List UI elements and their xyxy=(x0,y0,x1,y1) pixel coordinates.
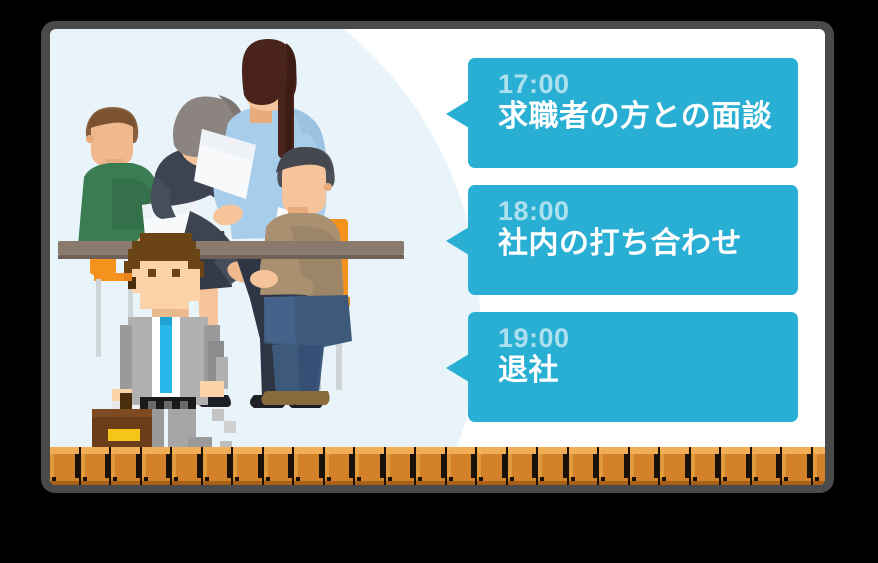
brick-corner-tick xyxy=(296,477,300,481)
brick-notch-left xyxy=(294,454,298,478)
brick-highlight xyxy=(691,447,720,454)
brick-corner-tick xyxy=(52,477,56,481)
brick-shadow xyxy=(81,481,110,485)
brick-notch-right xyxy=(563,454,567,478)
brick-corner-tick xyxy=(784,477,788,481)
brick-notch-left xyxy=(172,454,176,478)
schedule-time: 19:00 xyxy=(498,323,798,353)
brick-corner-tick xyxy=(449,477,453,481)
brick-highlight xyxy=(294,447,323,454)
floor-brick xyxy=(569,447,600,485)
bubble-tail-icon xyxy=(446,354,469,382)
brick-notch-left xyxy=(782,454,786,478)
floor-brick xyxy=(172,447,203,485)
brick-highlight xyxy=(111,447,140,454)
brick-notch-left xyxy=(142,454,146,478)
brick-notch-right xyxy=(593,454,597,478)
schedule-title: 求職者の方との面談 xyxy=(498,99,798,136)
brick-shadow xyxy=(111,481,140,485)
bubble-tail-icon xyxy=(446,227,469,255)
brick-highlight xyxy=(721,447,750,454)
brick-corner-tick xyxy=(693,477,697,481)
brick-notch-right xyxy=(715,454,719,478)
brick-notch-right xyxy=(197,454,201,478)
floor-brick xyxy=(721,447,752,485)
brick-corner-tick xyxy=(601,477,605,481)
brick-shadow xyxy=(508,481,537,485)
brick-highlight xyxy=(599,447,628,454)
brick-notch-left xyxy=(325,454,329,478)
brick-corner-tick xyxy=(510,477,514,481)
floor-brick xyxy=(233,447,264,485)
brick-highlight xyxy=(447,447,476,454)
brick-highlight xyxy=(142,447,171,454)
floor-brick xyxy=(447,447,478,485)
schedule-time: 18:00 xyxy=(498,196,798,226)
brick-highlight xyxy=(569,447,598,454)
brick-shadow xyxy=(233,481,262,485)
schedule-card-1[interactable]: 17:00 求職者の方との面談 xyxy=(468,58,798,168)
brick-notch-right xyxy=(502,454,506,478)
brick-notch-left xyxy=(630,454,634,478)
brick-highlight xyxy=(50,447,79,454)
floor-brick xyxy=(508,447,539,485)
floor-brick xyxy=(50,447,81,485)
brick-notch-left xyxy=(660,454,664,478)
brick-highlight xyxy=(81,447,110,454)
brick-notch-right xyxy=(136,454,140,478)
brick-notch-left xyxy=(416,454,420,478)
brick-shadow xyxy=(294,481,323,485)
brick-notch-right xyxy=(75,454,79,478)
brick-notch-left xyxy=(691,454,695,478)
brick-notch-right xyxy=(532,454,536,478)
slide-surface: 17:00 求職者の方との面談 18:00 社内の打ち合わせ 19:00 退社 xyxy=(50,29,825,485)
brick-notch-left xyxy=(81,454,85,478)
floor-brick xyxy=(111,447,142,485)
slide-canvas: 17:00 求職者の方との面談 18:00 社内の打ち合わせ 19:00 退社 xyxy=(0,0,878,563)
brick-notch-right xyxy=(319,454,323,478)
brick-shadow xyxy=(599,481,628,485)
brick-highlight xyxy=(203,447,232,454)
brick-notch-left xyxy=(233,454,237,478)
floor-brick xyxy=(264,447,295,485)
brick-highlight xyxy=(630,447,659,454)
floor-brick xyxy=(416,447,447,485)
brick-corner-tick xyxy=(723,477,727,481)
brick-notch-right xyxy=(685,454,689,478)
floor-brick xyxy=(294,447,325,485)
brick-highlight xyxy=(355,447,384,454)
brick-highlight xyxy=(264,447,293,454)
brick-notch-right xyxy=(746,454,750,478)
brick-notch-right xyxy=(654,454,658,478)
brick-corner-tick xyxy=(174,477,178,481)
brick-notch-right xyxy=(776,454,780,478)
brick-notch-left xyxy=(599,454,603,478)
brick-shadow xyxy=(538,481,567,485)
brick-shadow xyxy=(355,481,384,485)
brick-shadow xyxy=(477,481,506,485)
floor-brick xyxy=(691,447,722,485)
brick-shadow xyxy=(813,481,826,485)
floor-brick xyxy=(142,447,173,485)
brick-shadow xyxy=(752,481,781,485)
floor-brick xyxy=(660,447,691,485)
floor-brick xyxy=(355,447,386,485)
brick-corner-tick xyxy=(144,477,148,481)
floor-brick xyxy=(813,447,826,485)
brick-corner-tick xyxy=(235,477,239,481)
brick-highlight xyxy=(386,447,415,454)
brick-notch-left xyxy=(111,454,115,478)
schedule-time: 17:00 xyxy=(498,69,798,99)
brick-shadow xyxy=(50,481,79,485)
brick-notch-left xyxy=(264,454,268,478)
floor-brick xyxy=(81,447,112,485)
brick-notch-right xyxy=(441,454,445,478)
brick-highlight xyxy=(660,447,689,454)
brick-highlight xyxy=(538,447,567,454)
brick-notch-left xyxy=(508,454,512,478)
brick-shadow xyxy=(203,481,232,485)
brick-notch-left xyxy=(721,454,725,478)
floor-brick xyxy=(325,447,356,485)
brick-shadow xyxy=(264,481,293,485)
brick-notch-right xyxy=(166,454,170,478)
brick-corner-tick xyxy=(83,477,87,481)
brick-notch-left xyxy=(477,454,481,478)
brick-notch-right xyxy=(258,454,262,478)
brick-highlight xyxy=(172,447,201,454)
brick-notch-left xyxy=(813,454,817,478)
brick-shadow xyxy=(660,481,689,485)
brick-notch-left xyxy=(50,454,54,478)
brick-shadow xyxy=(447,481,476,485)
brick-notch-right xyxy=(288,454,292,478)
brick-corner-tick xyxy=(327,477,331,481)
schedule-title: 退社 xyxy=(498,353,798,390)
brick-notch-left xyxy=(386,454,390,478)
schedule-title: 社内の打ち合わせ xyxy=(498,226,798,263)
brick-notch-right xyxy=(349,454,353,478)
brick-highlight xyxy=(508,447,537,454)
brick-highlight xyxy=(477,447,506,454)
brick-highlight xyxy=(752,447,781,454)
brick-notch-left xyxy=(203,454,207,478)
brick-notch-left xyxy=(752,454,756,478)
brick-notch-right xyxy=(227,454,231,478)
floor-brick xyxy=(386,447,417,485)
floor-brick xyxy=(538,447,569,485)
brick-shadow xyxy=(782,481,811,485)
brick-notch-right xyxy=(807,454,811,478)
floor-brick xyxy=(599,447,630,485)
brick-corner-tick xyxy=(815,477,819,481)
floor-brick xyxy=(203,447,234,485)
brick-corner-tick xyxy=(662,477,666,481)
brick-corner-tick xyxy=(418,477,422,481)
floor-brick xyxy=(782,447,813,485)
brick-notch-right xyxy=(380,454,384,478)
brick-corner-tick xyxy=(632,477,636,481)
brick-notch-right xyxy=(410,454,414,478)
brick-shadow xyxy=(569,481,598,485)
schedule-card-2[interactable]: 18:00 社内の打ち合わせ xyxy=(468,185,798,295)
brick-notch-right xyxy=(624,454,628,478)
brick-corner-tick xyxy=(479,477,483,481)
brick-shadow xyxy=(721,481,750,485)
brick-shadow xyxy=(172,481,201,485)
brick-shadow xyxy=(416,481,445,485)
schedule-card-3[interactable]: 19:00 退社 xyxy=(468,312,798,422)
brick-corner-tick xyxy=(205,477,209,481)
brick-corner-tick xyxy=(754,477,758,481)
brick-shadow xyxy=(386,481,415,485)
floor-brick xyxy=(752,447,783,485)
brick-corner-tick xyxy=(571,477,575,481)
bubble-tail-icon xyxy=(446,100,469,128)
brick-shadow xyxy=(691,481,720,485)
brick-highlight xyxy=(233,447,262,454)
brick-highlight xyxy=(813,447,826,454)
brick-shadow xyxy=(142,481,171,485)
floor-brick xyxy=(630,447,661,485)
brick-shadow xyxy=(325,481,354,485)
brick-notch-left xyxy=(569,454,573,478)
brick-notch-left xyxy=(447,454,451,478)
brick-corner-tick xyxy=(113,477,117,481)
brick-notch-left xyxy=(538,454,542,478)
brick-highlight xyxy=(782,447,811,454)
floor-brick xyxy=(477,447,508,485)
brick-highlight xyxy=(325,447,354,454)
brick-highlight xyxy=(416,447,445,454)
brick-corner-tick xyxy=(357,477,361,481)
brick-shadow xyxy=(630,481,659,485)
brick-notch-right xyxy=(105,454,109,478)
brick-corner-tick xyxy=(540,477,544,481)
brick-notch-right xyxy=(471,454,475,478)
pixel-brick-floor xyxy=(50,447,825,485)
brick-corner-tick xyxy=(388,477,392,481)
brick-corner-tick xyxy=(266,477,270,481)
brick-notch-left xyxy=(355,454,359,478)
